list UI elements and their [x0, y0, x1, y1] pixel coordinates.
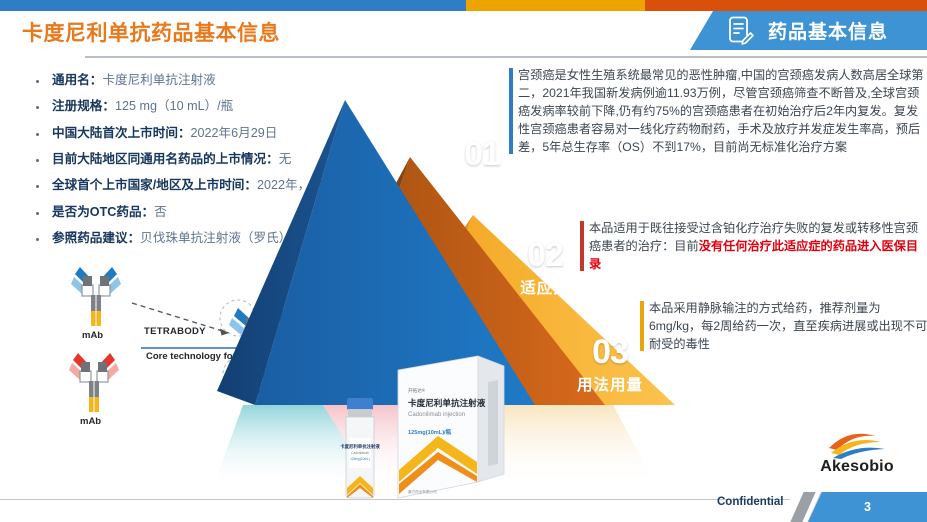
svg-text:125mg(10mL): 125mg(10mL)	[350, 457, 370, 461]
info-box-text: 本品采用静脉输注的方式给药，推荐剂量为6mg/kg，每2周给药一次，直至疾病进展…	[649, 299, 927, 353]
svg-text:Cadonilimab: Cadonilimab	[351, 451, 369, 455]
info-box-accent-bar	[580, 221, 584, 271]
info-box-indication: 本品适用于既往接受过含铂化疗治疗失败的复发或转移性宫颈癌患者的治疗：目前没有任何…	[580, 219, 927, 273]
document-pencil-icon	[728, 16, 754, 46]
pyramid-label-02: 适应症	[490, 276, 600, 298]
mab-top-label: mAb	[82, 330, 103, 341]
top-color-strip	[0, 0, 927, 11]
section-tab-label: 药品基本信息	[768, 17, 888, 44]
confidential-label: Confidential	[717, 496, 783, 508]
svg-text:卡度尼利单抗注射液: 卡度尼利单抗注射液	[408, 397, 486, 408]
header-divider	[85, 56, 927, 58]
pyramid-label-01: 疾病现状	[427, 175, 537, 197]
akesobio-logo: Akesobio	[805, 430, 909, 476]
footer-divider	[0, 499, 790, 500]
bullet-label: 参照药品建议：	[52, 231, 140, 245]
bullet-label: 注册规格：	[52, 99, 115, 113]
info-box-text: 本品适用于既往接受过含铂化疗治疗失败的复发或转移性宫颈癌患者的治疗：目前没有任何…	[589, 219, 927, 273]
bullet-label: 中国大陆首次上市时间：	[52, 126, 191, 140]
tetrabody-title: TETRABODY	[144, 326, 206, 337]
list-item: 通用名：卡度尼利单抗注射液	[30, 74, 490, 88]
top-strip-amber-segment	[466, 0, 645, 11]
info-box-accent-bar	[509, 68, 513, 154]
pyramid-label-03: 用法用量	[555, 373, 665, 395]
svg-text:卡度尼利单抗注射液: 卡度尼利单抗注射液	[340, 443, 380, 450]
slide-footer: Confidential 3	[0, 488, 927, 522]
info-box-dosage: 本品采用静脉输注的方式给药，推荐剂量为6mg/kg，每2周给药一次，直至疾病进展…	[640, 299, 927, 353]
info-box-disease-status: 宫颈癌是女性生殖系统最常见的恶性肿瘤,中国的宫颈癌发病人数高居全球第二，2021…	[509, 66, 926, 156]
product-vial-image: 卡度尼利单抗注射液 Cadonilimab 125mg(10mL)	[338, 396, 382, 500]
slide-canvas: 卡度尼利单抗药品基本信息 药品基本信息 通用名：卡度尼利单抗注射液 注册规格：1…	[0, 0, 927, 522]
svg-text:Cadonilimab injection: Cadonilimab injection	[408, 412, 465, 418]
info-box-accent-bar	[640, 301, 644, 351]
svg-text:125mg(10mL)/瓶: 125mg(10mL)/瓶	[408, 428, 452, 436]
bullet-value: 否	[154, 205, 167, 219]
bullet-label: 是否为OTC药品：	[52, 205, 154, 219]
top-strip-orange-segment	[645, 0, 927, 11]
mab-bottom-label: mAb	[80, 416, 101, 427]
top-strip-blue-segment	[0, 0, 466, 11]
info-box-text: 宫颈癌是女性生殖系统最常见的恶性肿瘤,中国的宫颈癌发病人数高居全球第二，2021…	[518, 66, 926, 156]
svg-text:开拓达®: 开拓达®	[408, 387, 426, 394]
bullet-label: 通用名：	[52, 73, 102, 87]
page-number: 3	[808, 492, 927, 522]
bullet-value: 卡度尼利单抗注射液	[102, 73, 215, 87]
section-tab-drug-basic-info[interactable]: 药品基本信息	[690, 11, 927, 50]
product-box-image: 开拓达® 卡度尼利单抗注射液 Cadonilimab injection 125…	[392, 352, 512, 500]
akesobio-logo-text: Akesobio	[805, 458, 909, 476]
page-title: 卡度尼利单抗药品基本信息	[22, 17, 280, 47]
